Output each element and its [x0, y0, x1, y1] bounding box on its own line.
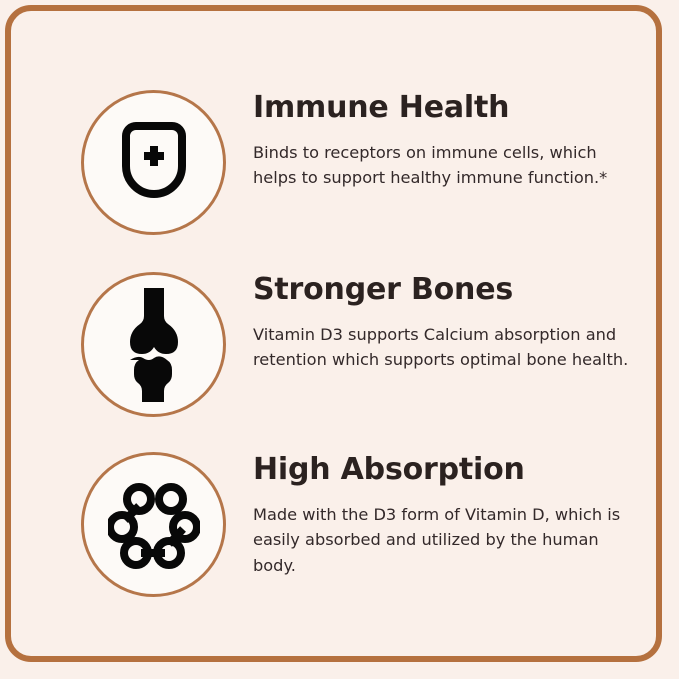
feature-item-stronger-bones: Stronger Bones Vitamin D3 supports Calci…	[81, 272, 641, 417]
feature-title: Immune Health	[253, 92, 641, 124]
molecule-icon	[108, 479, 200, 571]
icon-badge-immune-health	[81, 90, 226, 235]
feature-description: Binds to receptors on immune cells, whic…	[253, 140, 641, 191]
feature-text-high-absorption: High Absorption Made with the D3 form of…	[226, 452, 641, 578]
icon-badge-stronger-bones	[81, 272, 226, 417]
shield-plus-icon	[118, 122, 190, 204]
feature-title: Stronger Bones	[253, 274, 641, 306]
feature-description: Vitamin D3 supports Calcium absorption a…	[253, 322, 641, 373]
feature-item-high-absorption: High Absorption Made with the D3 form of…	[81, 452, 641, 597]
feature-item-immune-health: Immune Health Binds to receptors on immu…	[81, 90, 641, 235]
feature-text-stronger-bones: Stronger Bones Vitamin D3 supports Calci…	[226, 272, 641, 373]
feature-text-immune-health: Immune Health Binds to receptors on immu…	[226, 90, 641, 191]
feature-title: High Absorption	[253, 454, 641, 486]
feature-description: Made with the D3 form of Vitamin D, whic…	[253, 502, 641, 579]
bone-joint-icon	[121, 288, 187, 402]
feature-list: Immune Health Binds to receptors on immu…	[0, 0, 679, 679]
icon-badge-high-absorption	[81, 452, 226, 597]
